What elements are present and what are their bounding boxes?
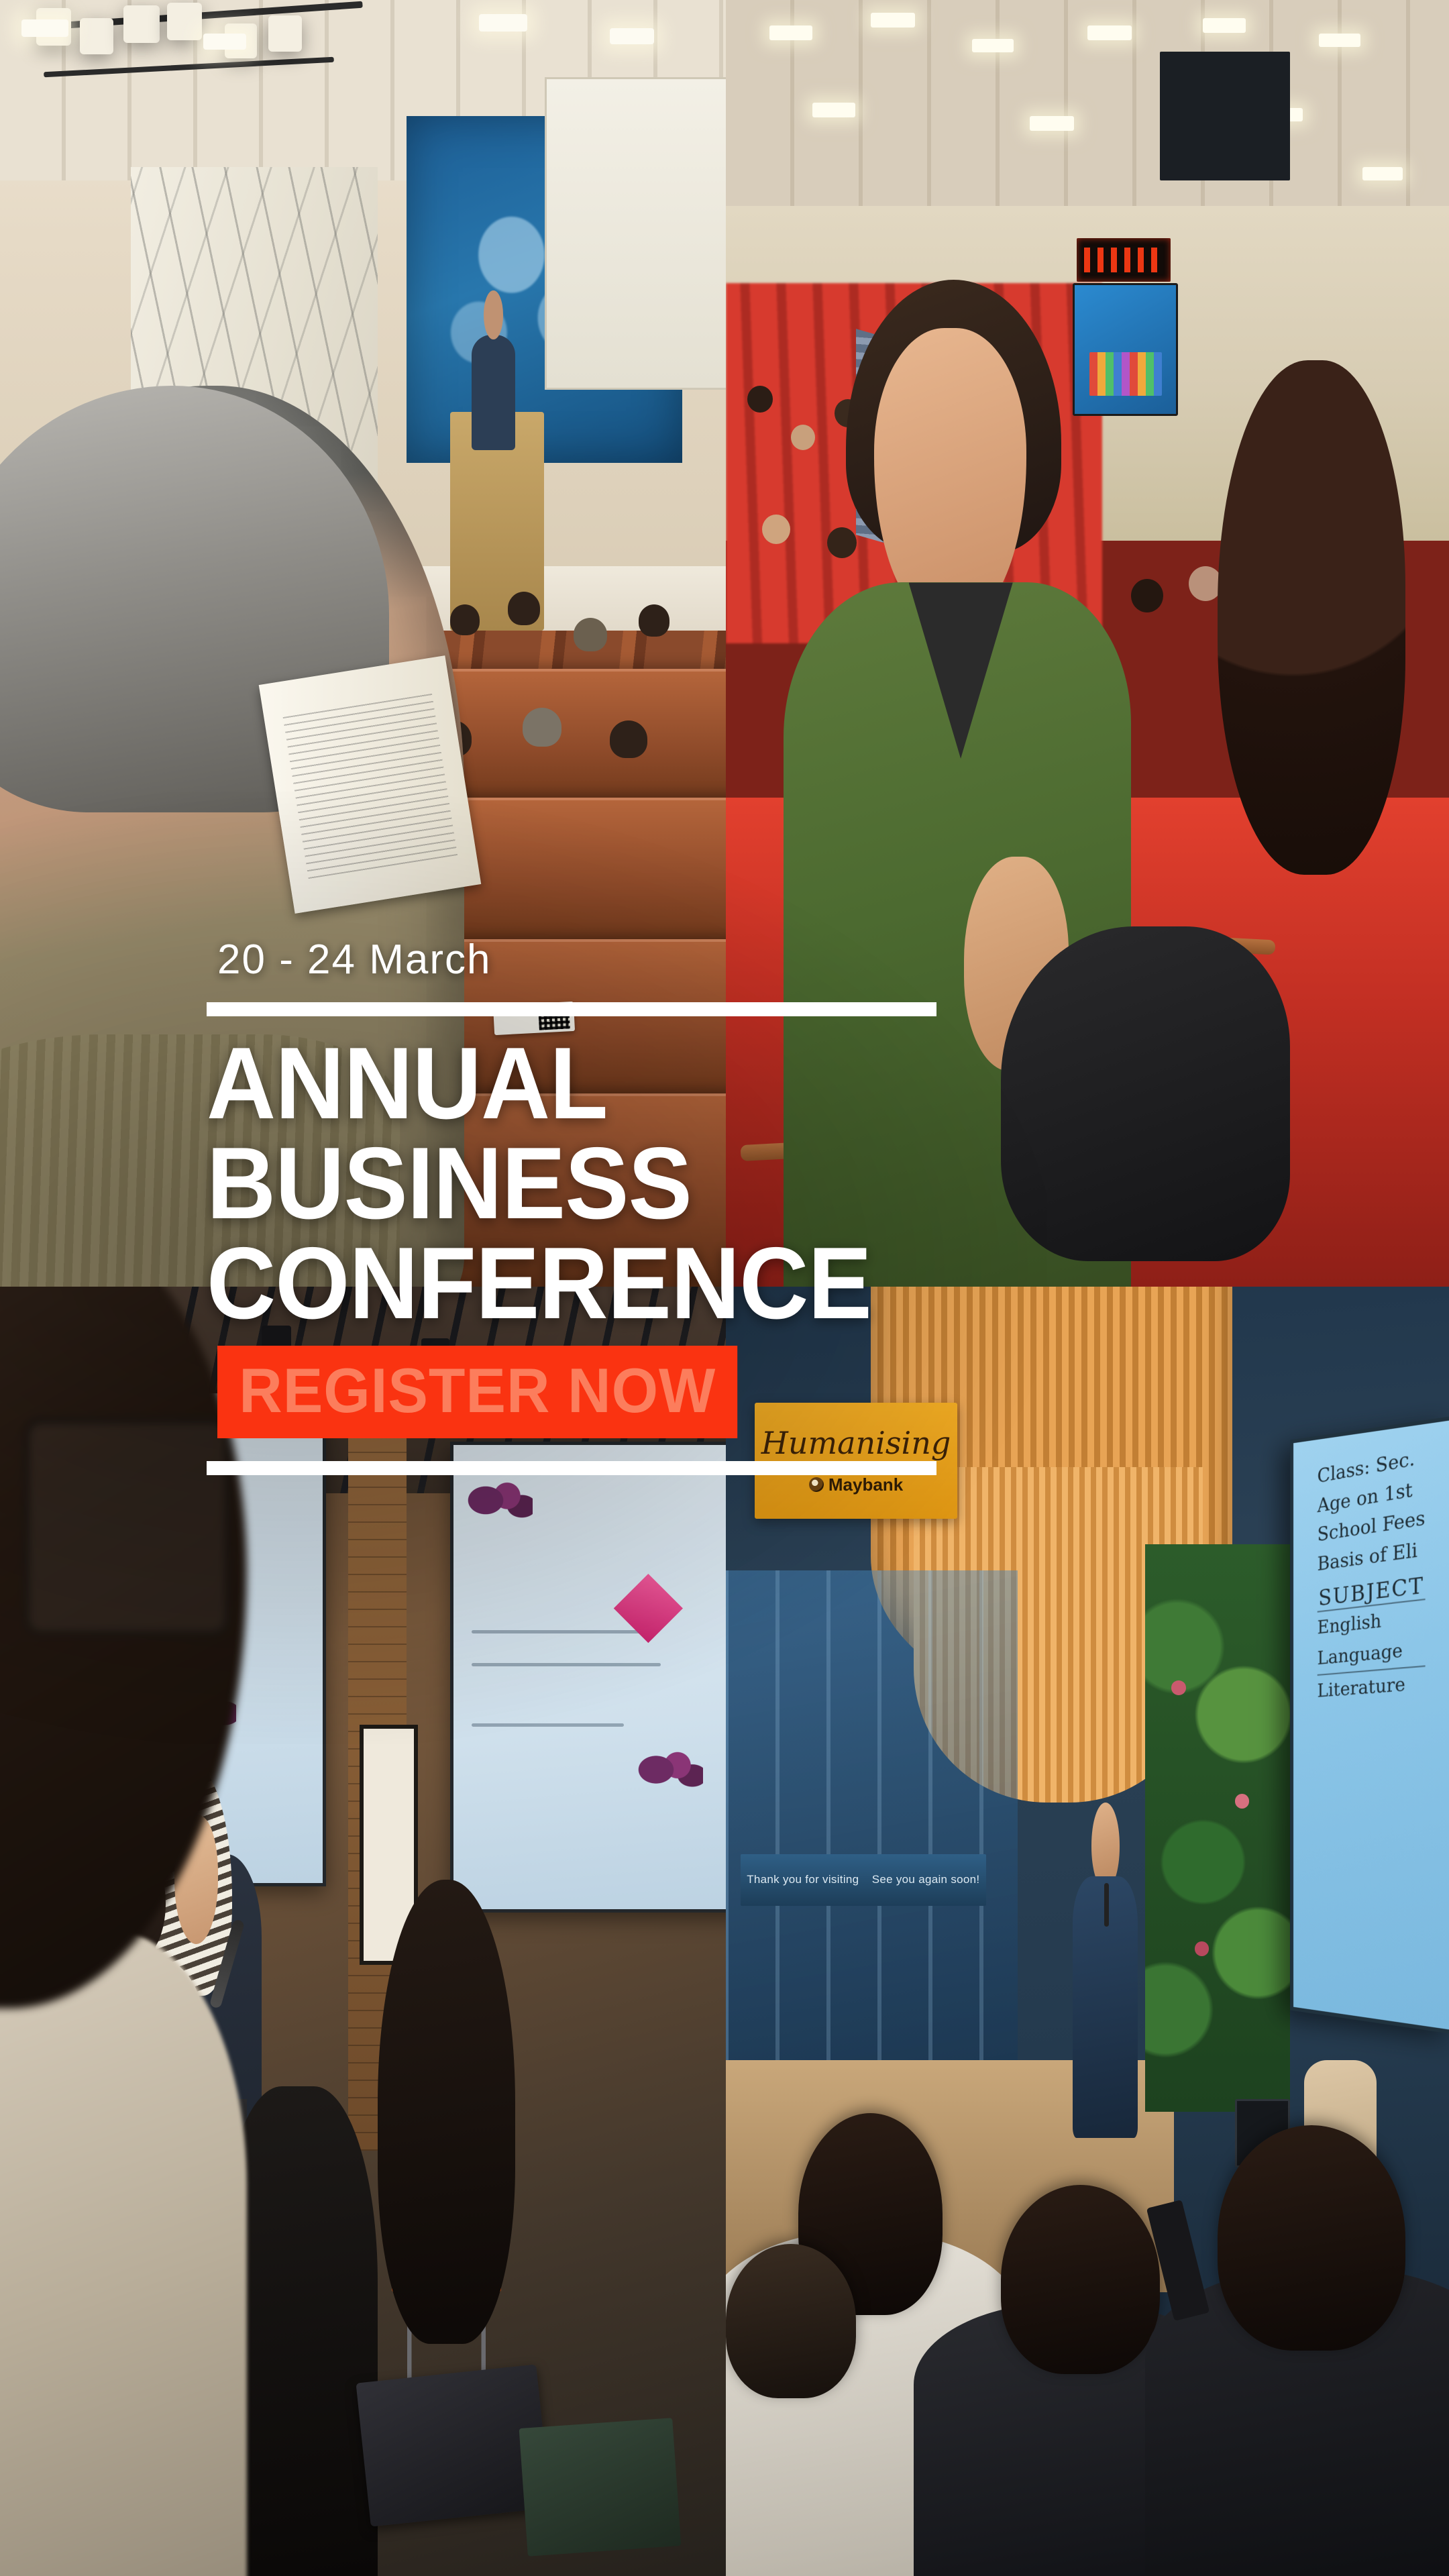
ceiling-light xyxy=(1362,167,1403,180)
handheld-microphone xyxy=(1104,1883,1109,1927)
notebook xyxy=(519,2418,681,2556)
banner-right-text: See you again soon! xyxy=(872,1873,980,1886)
collage-photo-bottom-left xyxy=(0,1287,726,2576)
audience-head xyxy=(639,604,669,637)
collage-photo-bottom-right: Humanising Financial Services Maybank Th… xyxy=(726,1287,1449,2576)
audience-head xyxy=(508,592,540,625)
wall-flower xyxy=(1195,1941,1210,1956)
wall-display-panel xyxy=(1160,52,1290,180)
event-audience xyxy=(726,1983,1449,2576)
countdown-clock xyxy=(1077,238,1171,282)
banner-left-text: Thank you for visiting xyxy=(747,1873,859,1886)
slide-ornament xyxy=(636,1733,703,1807)
ceiling-light xyxy=(769,25,812,40)
conference-poster: Humanising Financial Services Maybank Th… xyxy=(0,0,1449,2576)
register-now-button[interactable]: REGISTER NOW xyxy=(217,1346,738,1438)
headline-line-3: CONFERENCE xyxy=(207,1234,900,1334)
ceiling-panel xyxy=(21,19,68,37)
ceiling-light xyxy=(1203,18,1246,33)
attendee-face xyxy=(874,328,1027,621)
audience-head xyxy=(450,604,480,635)
ceiling-light xyxy=(1030,116,1074,131)
board-table-row-0: English Language xyxy=(1317,1599,1425,1674)
open-program-booklet xyxy=(259,655,482,914)
maybank-brand-label: Maybank xyxy=(828,1476,903,1493)
foreground-attendee-body xyxy=(0,1931,247,2576)
slide-text-line xyxy=(472,1663,661,1666)
ceiling-panel xyxy=(479,14,527,32)
ceiling-light xyxy=(1319,34,1360,47)
projection-screen xyxy=(545,77,727,390)
ceiling-panel xyxy=(610,28,654,44)
headline-line-1: ANNUAL xyxy=(207,1034,900,1134)
divider-bottom xyxy=(207,1461,936,1475)
slide-text-line xyxy=(472,1723,624,1727)
desk-devices xyxy=(363,2357,711,2563)
presentation-board: Class: Sec. Age on 1st School Fees Basis… xyxy=(1290,1415,1449,2035)
wall-flower xyxy=(1235,1794,1250,1809)
stage-light xyxy=(268,15,302,52)
ceiling-light xyxy=(812,103,855,117)
ceiling-panel xyxy=(203,34,246,50)
stage-speaker xyxy=(472,335,515,451)
projection-screen-right xyxy=(450,1442,726,1913)
ceiling-light xyxy=(972,39,1014,52)
folded-jacket xyxy=(1001,926,1290,1261)
slide-text-line xyxy=(472,1630,642,1633)
audience-head xyxy=(726,2244,856,2398)
seated-attendee-dark-hair xyxy=(378,1880,516,2344)
audience-head xyxy=(610,720,647,758)
ceiling-light xyxy=(1087,25,1132,40)
page-title: ANNUAL BUSINESS CONFERENCE xyxy=(207,1034,900,1334)
audience-head xyxy=(523,708,561,747)
attendee-curly-hair xyxy=(1218,360,1405,875)
audience-head xyxy=(1218,2125,1405,2351)
ceiling-light xyxy=(871,13,915,28)
divider-top xyxy=(207,1002,936,1016)
stage-light xyxy=(80,18,113,54)
poster-copy: 20 - 24 March ANNUAL BUSINESS CONFERENCE… xyxy=(207,939,945,1475)
audience-head xyxy=(1131,579,1163,612)
audience-head xyxy=(574,618,607,651)
wall-flower xyxy=(1171,1680,1186,1695)
event-dates: 20 - 24 March xyxy=(217,939,945,981)
maybank-tiger-logo-icon xyxy=(809,1477,824,1492)
maybank-brand: Maybank xyxy=(809,1476,903,1493)
stage-light xyxy=(167,3,202,40)
stage-light xyxy=(123,5,160,43)
headline-line-2: BUSINESS xyxy=(207,1134,900,1234)
storefront-banner: Thank you for visiting See you again soo… xyxy=(741,1854,987,1906)
eyeglasses-icon xyxy=(23,1417,231,1638)
audience-head xyxy=(1001,2185,1160,2375)
